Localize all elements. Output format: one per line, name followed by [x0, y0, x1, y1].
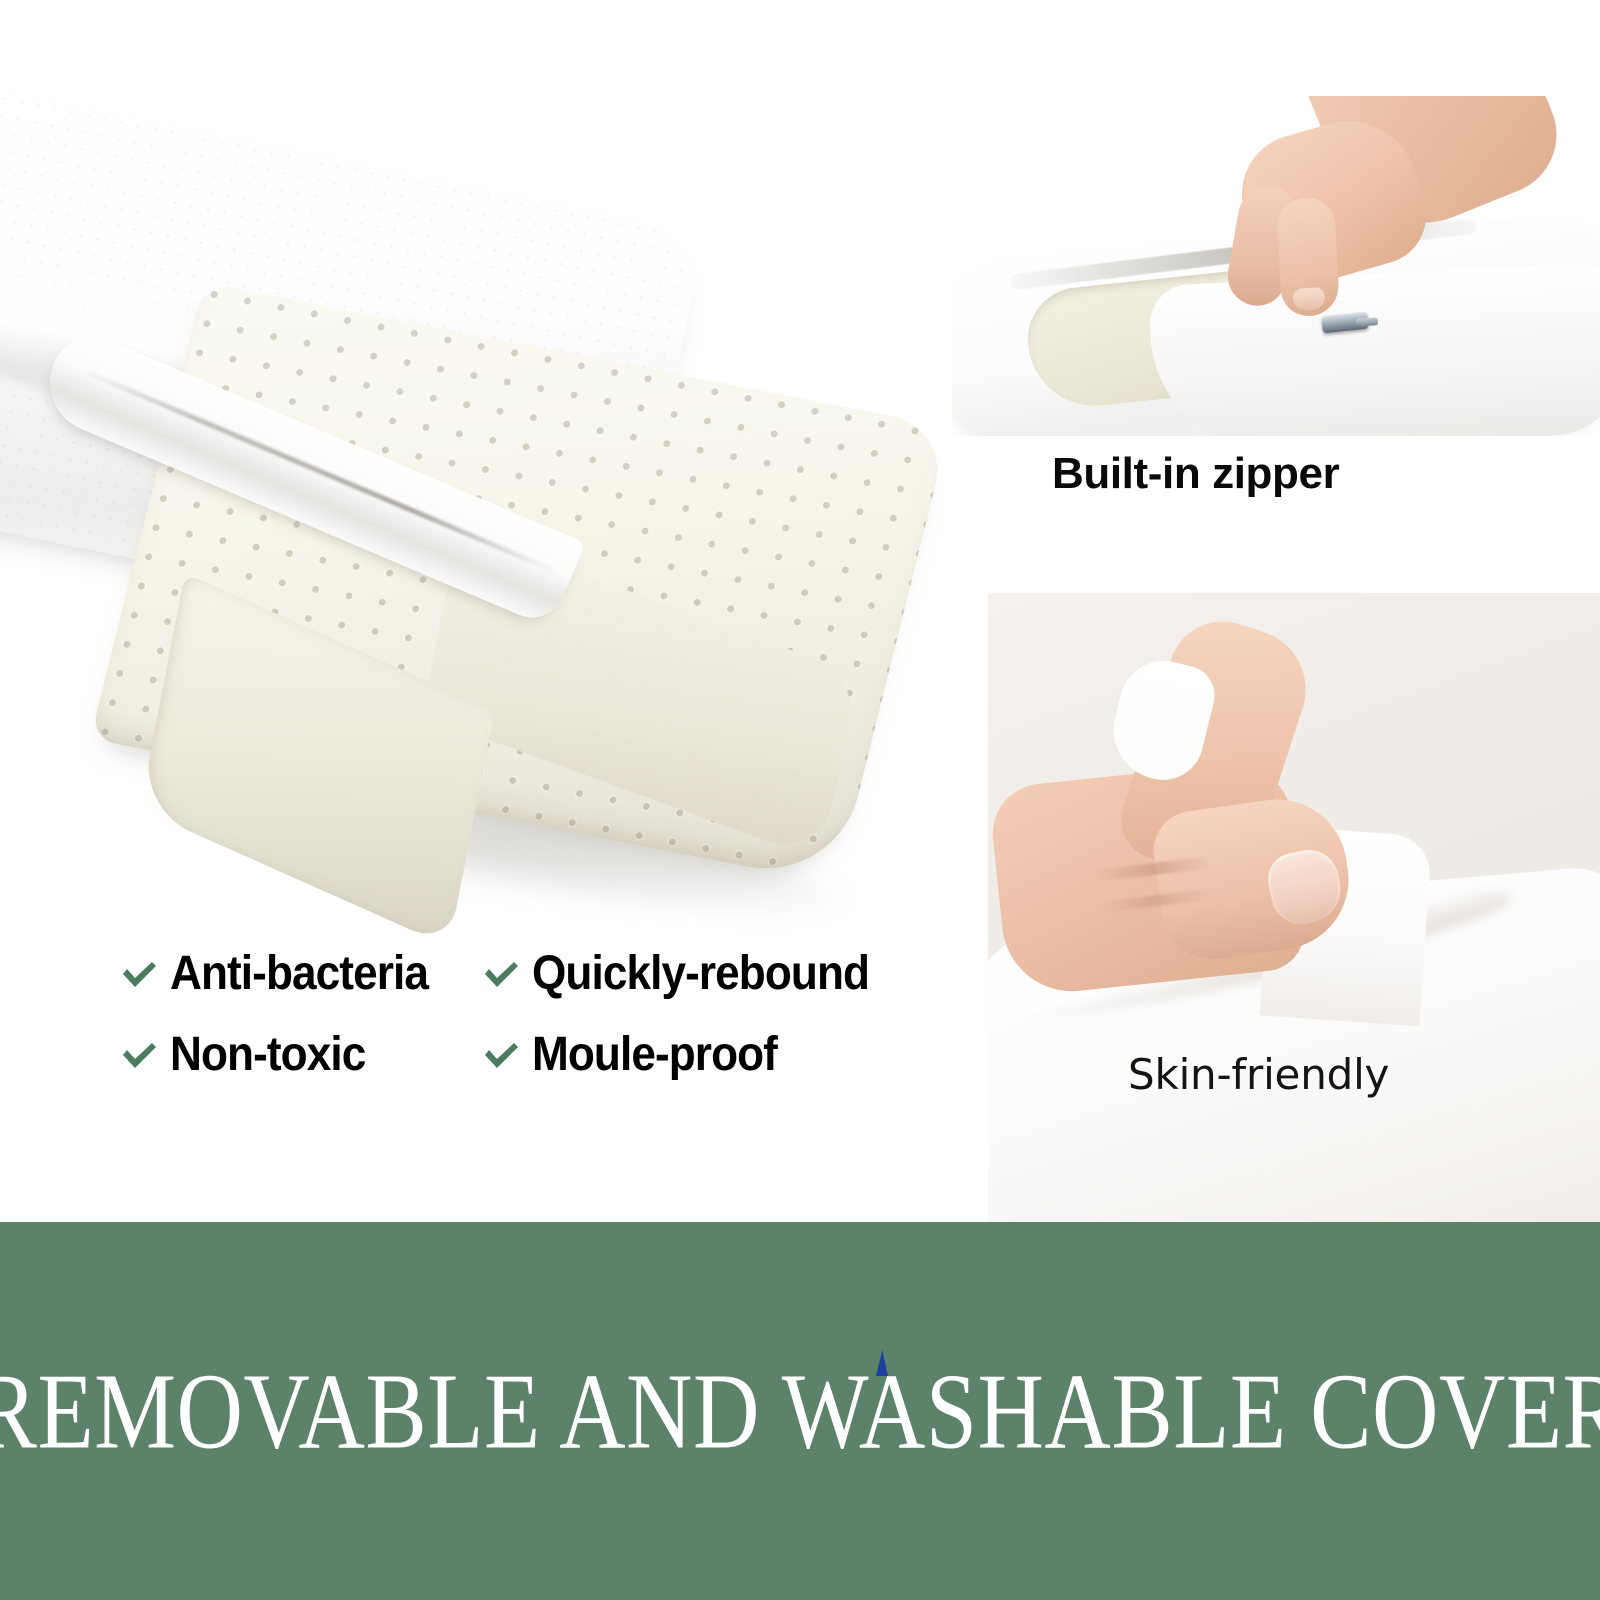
feature-label: Moule-proof	[532, 1027, 777, 1082]
hand-pulling-zipper	[1207, 96, 1507, 326]
bottom-banner: REMOVABLE AND WASHABLE COVER	[0, 1222, 1600, 1600]
feature-row: Non-toxic Moule-proof	[118, 1027, 948, 1082]
product-infographic: Built-in zipper Skin-friendly Anti-bacte…	[0, 0, 1600, 1600]
feature-label: Quickly-rebound	[532, 946, 869, 1001]
check-icon	[480, 953, 522, 995]
skin-friendly-photo	[988, 593, 1600, 1222]
feature-row: Anti-bacteria Quickly-rebound	[118, 946, 948, 1001]
feature-item-moule-proof: Moule-proof	[480, 1027, 798, 1082]
built-in-zipper-caption: Built-in zipper	[1052, 449, 1339, 499]
feature-list: Anti-bacteria Quickly-rebound Non-toxic	[118, 946, 948, 1108]
zipper-photo	[952, 96, 1600, 436]
feature-item-quickly-rebound: Quickly-rebound	[480, 946, 898, 1001]
feature-item-non-toxic: Non-toxic	[118, 1027, 480, 1082]
skin-friendly-caption: Skin-friendly	[1128, 1050, 1389, 1099]
feature-label: Non-toxic	[170, 1027, 365, 1082]
banner-headline: REMOVABLE AND WASHABLE COVER	[0, 1222, 1600, 1600]
feature-item-anti-bacteria: Anti-bacteria	[118, 946, 480, 1001]
check-icon	[480, 1034, 522, 1076]
check-icon	[118, 953, 160, 995]
check-icon	[118, 1034, 160, 1076]
hand-pinching-fabric	[998, 603, 1458, 1023]
feature-label: Anti-bacteria	[170, 946, 428, 1001]
